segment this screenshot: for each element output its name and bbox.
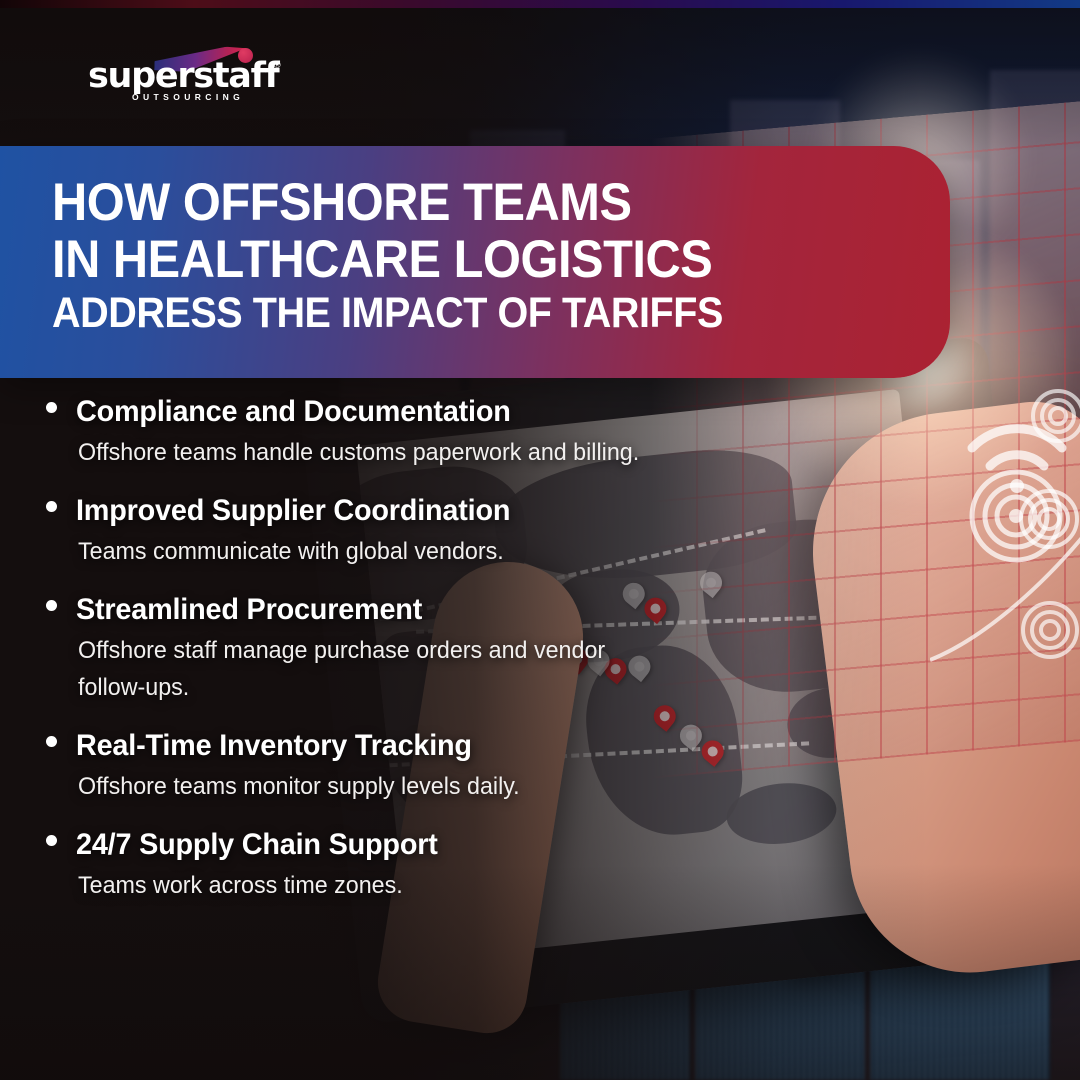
list-item-heading: Streamlined Procurement	[76, 590, 422, 630]
list-item: Improved Supplier Coordination Teams com…	[46, 491, 746, 570]
title-line-1: HOW OFFSHORE TEAMS	[52, 174, 841, 231]
list-item-heading-row: Improved Supplier Coordination	[46, 491, 746, 531]
list-item: 24/7 Supply Chain Support Teams work acr…	[46, 825, 746, 904]
title-banner-inner: HOW OFFSHORE TEAMS IN HEALTHCARE LOGISTI…	[52, 174, 910, 338]
list-item-body: Offshore teams monitor supply levels dai…	[78, 768, 660, 805]
title-banner: HOW OFFSHORE TEAMS IN HEALTHCARE LOGISTI…	[0, 146, 950, 378]
list-item-heading-row: Compliance and Documentation	[46, 392, 746, 432]
list-item-heading: Compliance and Documentation	[76, 392, 511, 432]
brand-logo[interactable]: superstaff OUTSOURCING ®	[88, 48, 288, 100]
title-line-2: IN HEALTHCARE LOGISTICS	[52, 231, 841, 288]
infographic-poster: superstaff OUTSOURCING ® HOW OFFSHORE TE…	[0, 0, 1080, 1080]
list-item: Compliance and Documentation Offshore te…	[46, 392, 746, 471]
bullet-dot-icon	[46, 736, 57, 747]
logo-wordmark: superstaff	[88, 59, 278, 94]
bullet-dot-icon	[46, 402, 57, 413]
list-item-body: Offshore staff manage purchase orders an…	[78, 632, 660, 706]
list-item-body: Offshore teams handle customs paperwork …	[78, 434, 660, 471]
bullet-dot-icon	[46, 600, 57, 611]
list-item-heading-row: Real-Time Inventory Tracking	[46, 726, 746, 766]
list-item-body: Teams work across time zones.	[78, 867, 660, 904]
top-accent-strip	[0, 0, 1080, 8]
list-item-heading: 24/7 Supply Chain Support	[76, 825, 438, 865]
bullet-dot-icon	[46, 835, 57, 846]
logo-tagline: OUTSOURCING	[132, 92, 244, 102]
list-item-heading: Real-Time Inventory Tracking	[76, 726, 472, 766]
list-item-heading-row: 24/7 Supply Chain Support	[46, 825, 746, 865]
list-item: Streamlined Procurement Offshore staff m…	[46, 590, 746, 706]
list-item: Real-Time Inventory Tracking Offshore te…	[46, 726, 746, 805]
bullet-dot-icon	[46, 501, 57, 512]
registered-mark: ®	[274, 60, 281, 70]
list-item-heading: Improved Supplier Coordination	[76, 491, 510, 531]
bullet-list: Compliance and Documentation Offshore te…	[46, 392, 746, 916]
title-line-3: ADDRESS THE IMPACT OF TARIFFS	[52, 288, 841, 338]
list-item-body: Teams communicate with global vendors.	[78, 533, 660, 570]
list-item-heading-row: Streamlined Procurement	[46, 590, 746, 630]
